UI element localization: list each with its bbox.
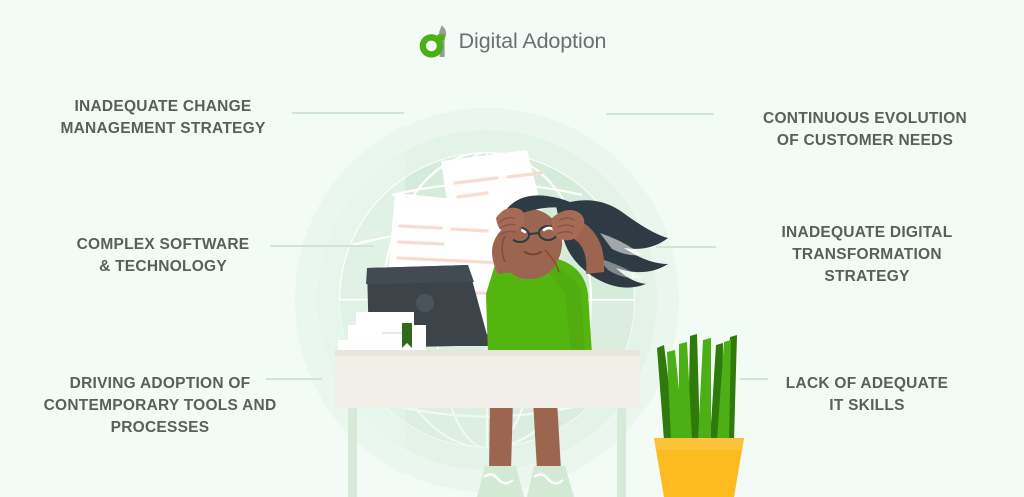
label-line-2: TRANSFORMATION	[726, 244, 1008, 266]
label-line-1: CONTINUOUS EVOLUTION	[716, 108, 1014, 130]
label-line-2: MANAGEMENT STRATEGY	[22, 118, 304, 140]
label-inadequate-change-management-strategy: INADEQUATE CHANGE MANAGEMENT STRATEGY	[22, 96, 304, 140]
connector-line-digital-transformation	[656, 246, 716, 248]
label-complex-software-technology: COMPLEX SOFTWARE & TECHNOLOGY	[22, 234, 304, 278]
label-line-2: & TECHNOLOGY	[22, 256, 304, 278]
label-line-1: LACK OF ADEQUATE	[726, 373, 1008, 395]
infographic-canvas: Digital Adoption INADEQUATE CHANGE MANAG…	[0, 0, 1024, 497]
label-line-2: CONTEMPORARY TOOLS AND	[10, 395, 310, 417]
connector-line-continuous-evolution	[606, 113, 714, 115]
digital-adoption-logo-icon	[418, 24, 452, 60]
label-inadequate-digital-transformation-strategy: INADEQUATE DIGITAL TRANSFORMATION STRATE…	[726, 222, 1008, 288]
label-line-1: INADEQUATE CHANGE	[22, 96, 304, 118]
label-line-1: COMPLEX SOFTWARE	[22, 234, 304, 256]
label-line-1: DRIVING ADOPTION OF	[10, 373, 310, 395]
label-line-1: INADEQUATE DIGITAL	[726, 222, 1008, 244]
brand-name: Digital Adoption	[459, 31, 607, 54]
label-line-2: IT SKILLS	[726, 395, 1008, 417]
connector-line-change-management	[292, 112, 404, 114]
label-lack-of-adequate-it-skills: LACK OF ADEQUATE IT SKILLS	[726, 373, 1008, 417]
label-line-3: PROCESSES	[10, 417, 310, 439]
brand-header: Digital Adoption	[0, 20, 1024, 64]
label-continuous-evolution-customer-needs: CONTINUOUS EVOLUTION OF CUSTOMER NEEDS	[716, 108, 1014, 152]
label-driving-adoption-contemporary-tools: DRIVING ADOPTION OF CONTEMPORARY TOOLS A…	[10, 373, 310, 439]
label-line-2: OF CUSTOMER NEEDS	[716, 130, 1014, 152]
label-line-3: STRATEGY	[726, 266, 1008, 288]
